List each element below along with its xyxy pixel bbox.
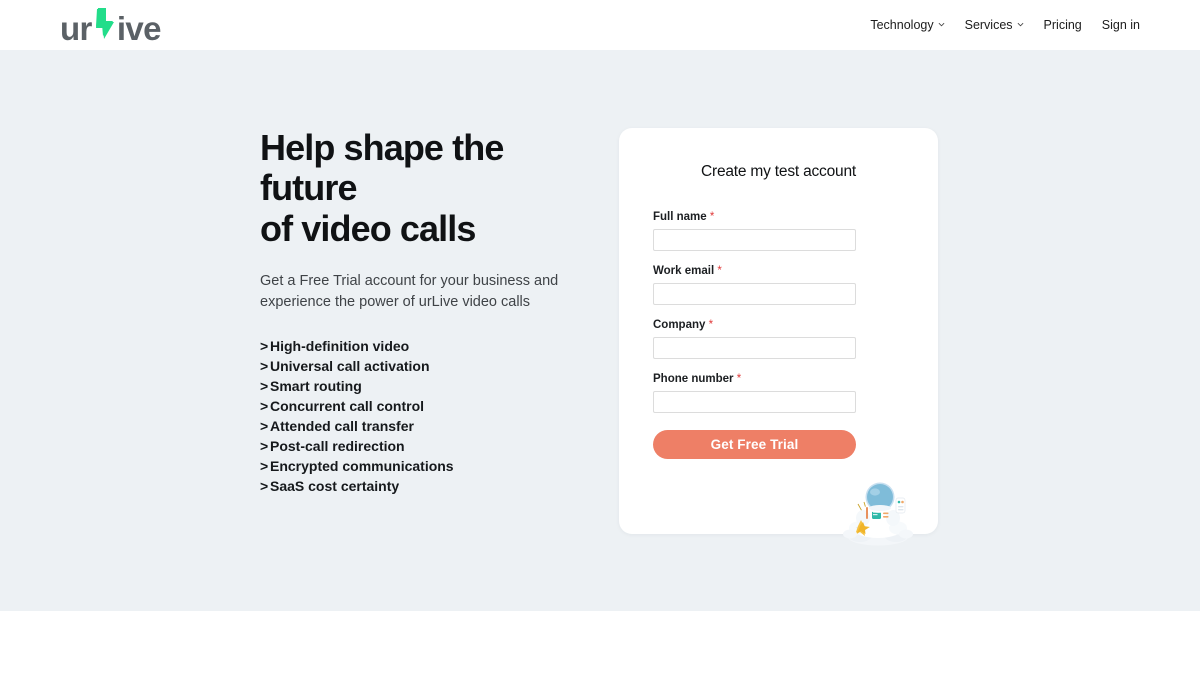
get-free-trial-button[interactable]: Get Free Trial	[653, 430, 856, 459]
headline-line-2: of video calls	[260, 208, 475, 249]
required-marker: *	[710, 211, 714, 223]
bullet-marker: >	[260, 416, 270, 436]
list-item: >Post-call redirection	[260, 436, 590, 456]
list-item: >Encrypted communications	[260, 456, 590, 476]
bullet-marker: >	[260, 376, 270, 396]
nav-item-pricing[interactable]: Pricing	[1044, 18, 1082, 32]
form-title: Create my test account	[619, 128, 938, 181]
page-title: Help shape the future of video calls	[260, 128, 590, 249]
bullet-marker: >	[260, 476, 270, 496]
feature-label: Smart routing	[270, 378, 362, 394]
list-item: >Attended call transfer	[260, 416, 590, 436]
bullet-marker: >	[260, 456, 270, 476]
nav-item-technology-label: Technology	[870, 18, 933, 32]
feature-label: Universal call activation	[270, 358, 430, 374]
signup-form-card: Create my test account Full name * Work …	[619, 128, 938, 534]
form-body: Full name * Work email * Company *	[619, 181, 938, 459]
logo-text-before: ur	[60, 12, 92, 45]
feature-list: >High-definition video >Universal call a…	[260, 336, 590, 496]
list-item: >SaaS cost certainty	[260, 476, 590, 496]
field-full-name: Full name *	[653, 211, 904, 251]
phone-number-input[interactable]	[653, 391, 856, 413]
subtitle-line-1: Get a Free Trial account for your busine…	[260, 273, 558, 289]
site-logo[interactable]: ur ive	[60, 6, 161, 45]
nav-item-pricing-label: Pricing	[1044, 18, 1082, 32]
headline-line-1: Help shape the future	[260, 127, 503, 208]
chevron-down-icon	[938, 21, 945, 28]
feature-label: SaaS cost certainty	[270, 478, 399, 494]
feature-label: Attended call transfer	[270, 418, 414, 434]
feature-label: Encrypted communications	[270, 458, 454, 474]
full-name-input[interactable]	[653, 229, 856, 251]
work-email-input[interactable]	[653, 283, 856, 305]
label-text: Full name	[653, 211, 707, 223]
hero-section: Help shape the future of video calls Get…	[0, 50, 1200, 611]
required-marker: *	[709, 319, 713, 331]
site-header: ur ive Technology Services Pricing Sig	[0, 0, 1200, 50]
logo-text-after: ive	[117, 12, 161, 45]
label-text: Phone number	[653, 373, 734, 385]
nav-item-sign-in[interactable]: Sign in	[1102, 18, 1140, 32]
feature-label: Concurrent call control	[270, 398, 424, 414]
field-label-full-name: Full name *	[653, 211, 904, 223]
chevron-down-icon	[1017, 21, 1024, 28]
field-label-phone-number: Phone number *	[653, 373, 904, 385]
list-item: >High-definition video	[260, 336, 590, 356]
label-text: Work email	[653, 265, 714, 277]
nav-item-sign-in-label: Sign in	[1102, 18, 1140, 32]
main-navigation: Technology Services Pricing Sign in	[870, 18, 1140, 32]
required-marker: *	[737, 373, 741, 385]
field-company: Company *	[653, 319, 904, 359]
required-marker: *	[717, 265, 721, 277]
hero-subtitle: Get a Free Trial account for your busine…	[260, 271, 565, 312]
label-text: Company	[653, 319, 705, 331]
field-label-company: Company *	[653, 319, 904, 331]
feature-label: High-definition video	[270, 338, 409, 354]
page-bottom-area	[0, 611, 1200, 675]
nav-item-services[interactable]: Services	[965, 18, 1024, 32]
bullet-marker: >	[260, 356, 270, 376]
cta-row: Get Free Trial	[653, 430, 904, 459]
list-item: >Concurrent call control	[260, 396, 590, 416]
list-item: >Universal call activation	[260, 356, 590, 376]
bullet-marker: >	[260, 396, 270, 416]
bullet-marker: >	[260, 336, 270, 356]
bullet-marker: >	[260, 436, 270, 456]
subtitle-line-2: experience the power of urLive video cal…	[260, 294, 530, 310]
list-item: >Smart routing	[260, 376, 590, 396]
field-phone-number: Phone number *	[653, 373, 904, 413]
hero-copy: Help shape the future of video calls Get…	[260, 128, 590, 496]
field-work-email: Work email *	[653, 265, 904, 305]
nav-item-technology[interactable]: Technology	[870, 18, 944, 32]
company-input[interactable]	[653, 337, 856, 359]
feature-label: Post-call redirection	[270, 438, 405, 454]
field-label-work-email: Work email *	[653, 265, 904, 277]
nav-item-services-label: Services	[965, 18, 1013, 32]
logo-lightning-chat-icon	[92, 6, 118, 40]
